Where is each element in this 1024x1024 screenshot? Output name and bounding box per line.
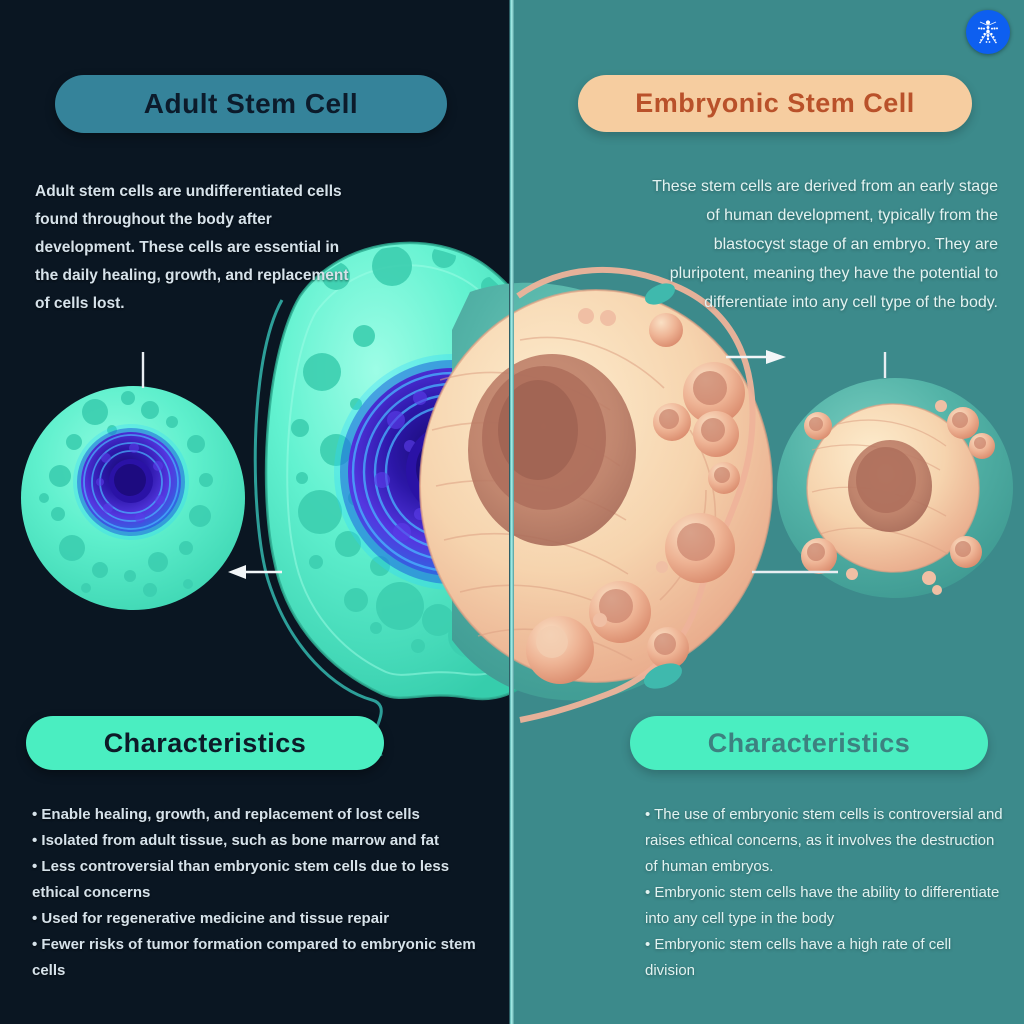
list-item: • The use of embryonic stem cells is con… — [645, 802, 1005, 880]
right-characteristics-list: • The use of embryonic stem cells is con… — [645, 802, 1005, 984]
list-item: • Used for regenerative medicine and tis… — [32, 906, 482, 932]
right-panel-title: Embryonic Stem Cell — [578, 75, 972, 132]
left-characteristics-list: • Enable healing, growth, and replacemen… — [32, 802, 482, 984]
list-item: • Embryonic stem cells have the ability … — [645, 880, 1005, 932]
right-panel-description: These stem cells are derived from an ear… — [650, 172, 998, 317]
list-item: • Embryonic stem cells have a high rate … — [645, 932, 1005, 984]
molecular-figure-icon — [973, 17, 1003, 47]
list-item: • Less controversial than embryonic stem… — [32, 854, 482, 906]
molecular-figure-badge[interactable] — [966, 10, 1010, 54]
list-item: • Fewer risks of tumor formation compare… — [32, 932, 482, 984]
list-item: • Enable healing, growth, and replacemen… — [32, 802, 482, 828]
left-characteristics-heading: Characteristics — [26, 716, 384, 770]
left-panel-title: Adult Stem Cell — [55, 75, 447, 133]
infographic-root: Adult Stem Cell Embryonic Stem Cell Adul… — [0, 0, 1024, 1024]
panel-divider — [509, 0, 514, 1024]
list-item: • Isolated from adult tissue, such as bo… — [32, 828, 482, 854]
left-panel-description: Adult stem cells are undifferentiated ce… — [35, 178, 365, 318]
right-characteristics-heading: Characteristics — [630, 716, 988, 770]
